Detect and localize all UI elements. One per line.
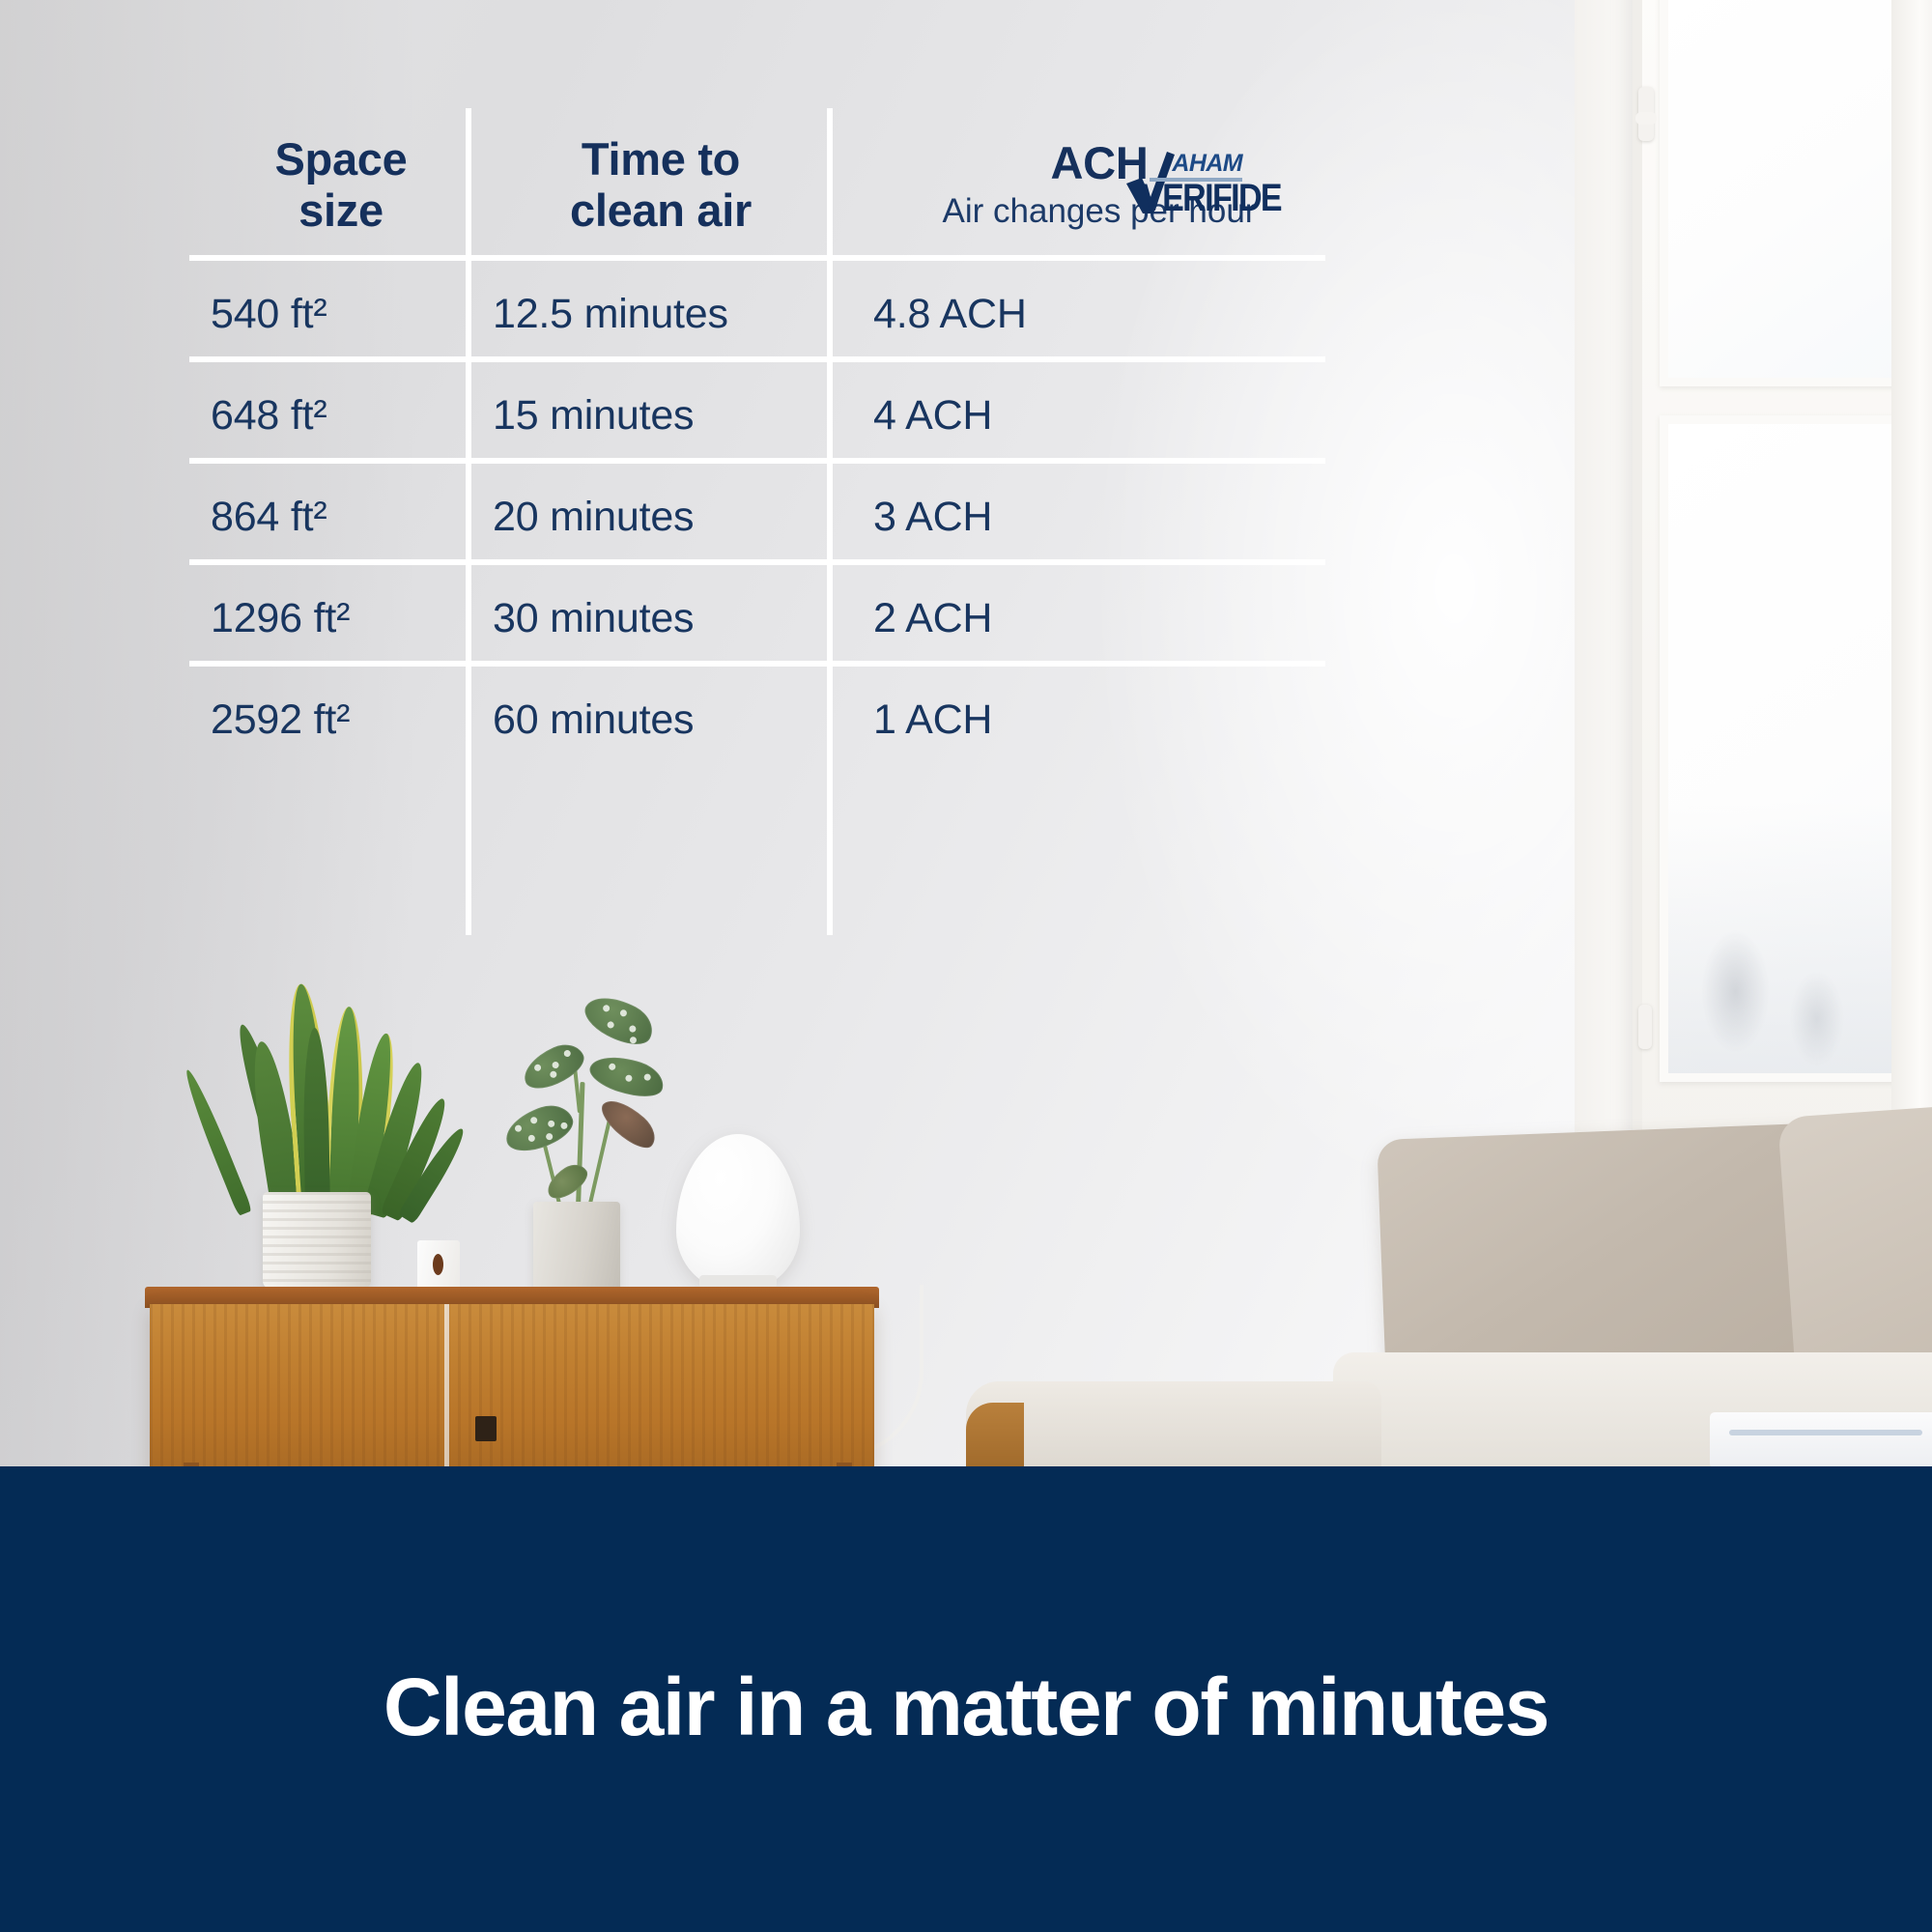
- cell-space-size: 864 ft²: [189, 469, 471, 565]
- cell-ach-value: 3 ACH: [829, 494, 992, 541]
- cell-time: 15 minutes: [471, 368, 829, 464]
- cell-ach: 4 ACH: [829, 368, 1325, 464]
- table-row: 540 ft² 12.5 minutes 4.8 ACH: [189, 267, 1325, 362]
- tree-silhouette: [1668, 801, 1908, 1073]
- cell-space-size-value: 1296 ft²: [189, 595, 350, 642]
- bottom-banner: Clean air in a matter of minutes: [0, 1466, 1932, 1932]
- side-table-book: [1729, 1430, 1922, 1435]
- table-row: 2592 ft² 60 minutes 1 ACH: [189, 672, 1325, 768]
- cell-time-value: 60 minutes: [471, 696, 694, 744]
- column-header-time-to-clean-air: Time to clean air: [471, 108, 829, 261]
- cell-ach: 1 ACH: [829, 672, 1325, 768]
- row-divider: [189, 458, 1325, 464]
- window-handle-lower-icon: [1638, 1005, 1652, 1049]
- cell-time: 12.5 minutes: [471, 267, 829, 362]
- cell-space-size-value: 864 ft²: [189, 494, 327, 541]
- candle-jar: [417, 1240, 460, 1291]
- column-header-time-line1: Time to: [582, 133, 740, 185]
- cell-space-size: 1296 ft²: [189, 571, 471, 667]
- window-handle-icon: [1638, 87, 1654, 141]
- sofa-arm: [966, 1381, 1381, 1466]
- column-divider-1: [466, 108, 471, 935]
- aham-badge-bottom-text: VERIFIDE: [1142, 177, 1244, 220]
- table-row: 864 ft² 20 minutes 3 ACH: [189, 469, 1325, 565]
- column-header-time-line2: clean air: [570, 185, 752, 236]
- cell-time-value: 15 minutes: [471, 392, 694, 440]
- cell-space-size: 648 ft²: [189, 368, 471, 464]
- column-header-space-size-line1: Space: [275, 133, 408, 185]
- column-divider-2: [827, 108, 833, 935]
- cell-space-size-value: 540 ft²: [189, 291, 327, 338]
- window-pane-top: [1668, 0, 1908, 378]
- cell-ach: 3 ACH: [829, 469, 1325, 565]
- cell-time-value: 20 minutes: [471, 494, 694, 541]
- cell-ach: 4.8 ACH: [829, 267, 1325, 362]
- table-row: 1296 ft² 30 minutes 2 ACH: [189, 571, 1325, 667]
- sofa-arm-wood-trim: [966, 1403, 1024, 1466]
- cell-time: 60 minutes: [471, 672, 829, 768]
- aham-verifide-badge: AHAM VERIFIDE: [1121, 147, 1244, 218]
- cell-space-size-value: 2592 ft²: [189, 696, 350, 744]
- sideboard-door-split: [444, 1304, 449, 1466]
- cell-ach-value: 4.8 ACH: [829, 291, 1027, 338]
- cell-space-size-value: 648 ft²: [189, 392, 327, 440]
- sideboard-knob: [475, 1416, 497, 1441]
- begonia-pot: [533, 1202, 620, 1291]
- table-row: 648 ft² 15 minutes 4 ACH: [189, 368, 1325, 464]
- wooden-sideboard: [150, 1304, 874, 1466]
- column-header-space-size: Space size: [189, 108, 471, 261]
- cell-space-size: 2592 ft²: [189, 672, 471, 768]
- banner-headline: Clean air in a matter of minutes: [384, 1661, 1548, 1754]
- column-header-space-size-line2: size: [298, 185, 384, 236]
- header-divider: [189, 255, 1325, 261]
- row-divider: [189, 356, 1325, 362]
- window-sash-top: [1660, 0, 1917, 386]
- cell-time: 20 minutes: [471, 469, 829, 565]
- cell-space-size: 540 ft²: [189, 267, 471, 362]
- cell-ach-value: 2 ACH: [829, 595, 992, 642]
- row-divider: [189, 661, 1325, 667]
- aham-badge-top-text: AHAM: [1167, 149, 1242, 178]
- cell-ach: 2 ACH: [829, 571, 1325, 667]
- snake-plant-pot: [263, 1192, 371, 1289]
- window-sash-bottom: [1660, 415, 1917, 1082]
- side-table: [1710, 1412, 1932, 1466]
- cell-ach-value: 4 ACH: [829, 392, 992, 440]
- cell-time-value: 12.5 minutes: [471, 291, 728, 338]
- cell-time: 30 minutes: [471, 571, 829, 667]
- row-divider: [189, 559, 1325, 565]
- cell-time-value: 30 minutes: [471, 595, 694, 642]
- cell-ach-value: 1 ACH: [829, 696, 992, 744]
- window-pane-bottom: [1668, 424, 1908, 1073]
